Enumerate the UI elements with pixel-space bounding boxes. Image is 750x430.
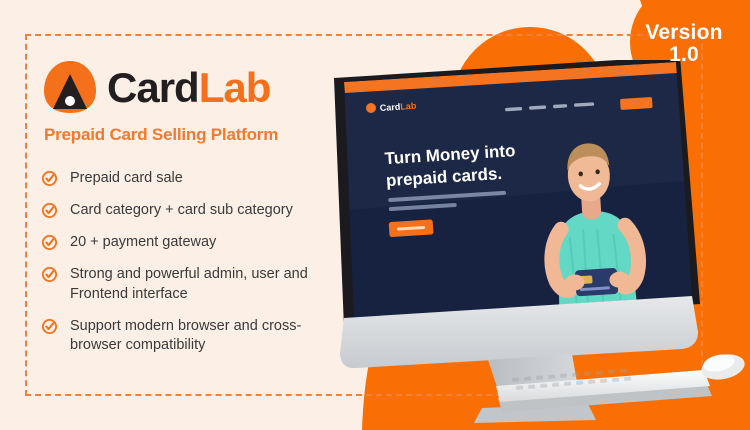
desktop-monitor-mockup: CardLab Turn Money into prepaid cards. xyxy=(320,60,750,430)
feature-text: Prepaid card sale xyxy=(70,169,183,188)
feature-list-item: Card category + card sub category xyxy=(42,201,342,220)
feature-list-item: 20 + payment gateway xyxy=(42,233,342,252)
brand-name-card: Card xyxy=(107,64,199,111)
version-badge: Version 1.0 xyxy=(632,2,736,86)
check-circle-icon xyxy=(42,267,57,282)
feature-text: Support modern browser and cross-browser… xyxy=(70,317,315,355)
check-circle-icon xyxy=(42,235,57,250)
brand-name-lab: Lab xyxy=(199,64,271,111)
brand-lockup: CardLab xyxy=(42,58,342,118)
brand-wordmark: CardLab xyxy=(107,67,270,109)
feature-list-item: Support modern browser and cross-browser… xyxy=(42,317,342,355)
version-word: Version xyxy=(645,22,722,44)
promo-banner: Version 1.0 CardLab Prepaid Card Selling… xyxy=(0,0,750,430)
version-number: 1.0 xyxy=(669,44,699,66)
check-circle-icon xyxy=(42,171,57,186)
feature-list: Prepaid card sale Card category + card s… xyxy=(42,169,342,355)
feature-text: 20 + payment gateway xyxy=(70,233,216,252)
check-circle-icon xyxy=(42,203,57,218)
feature-list-item: Strong and powerful admin, user and Fron… xyxy=(42,265,342,303)
brand-tagline: Prepaid Card Selling Platform xyxy=(44,125,342,145)
check-circle-icon xyxy=(42,319,57,334)
left-content-column: CardLab Prepaid Card Selling Platform Pr… xyxy=(42,58,342,371)
feature-text: Strong and powerful admin, user and Fron… xyxy=(70,265,315,303)
feature-list-item: Prepaid card sale xyxy=(42,169,342,188)
cardlab-arch-logo-icon xyxy=(42,59,98,117)
feature-text: Card category + card sub category xyxy=(70,201,293,220)
